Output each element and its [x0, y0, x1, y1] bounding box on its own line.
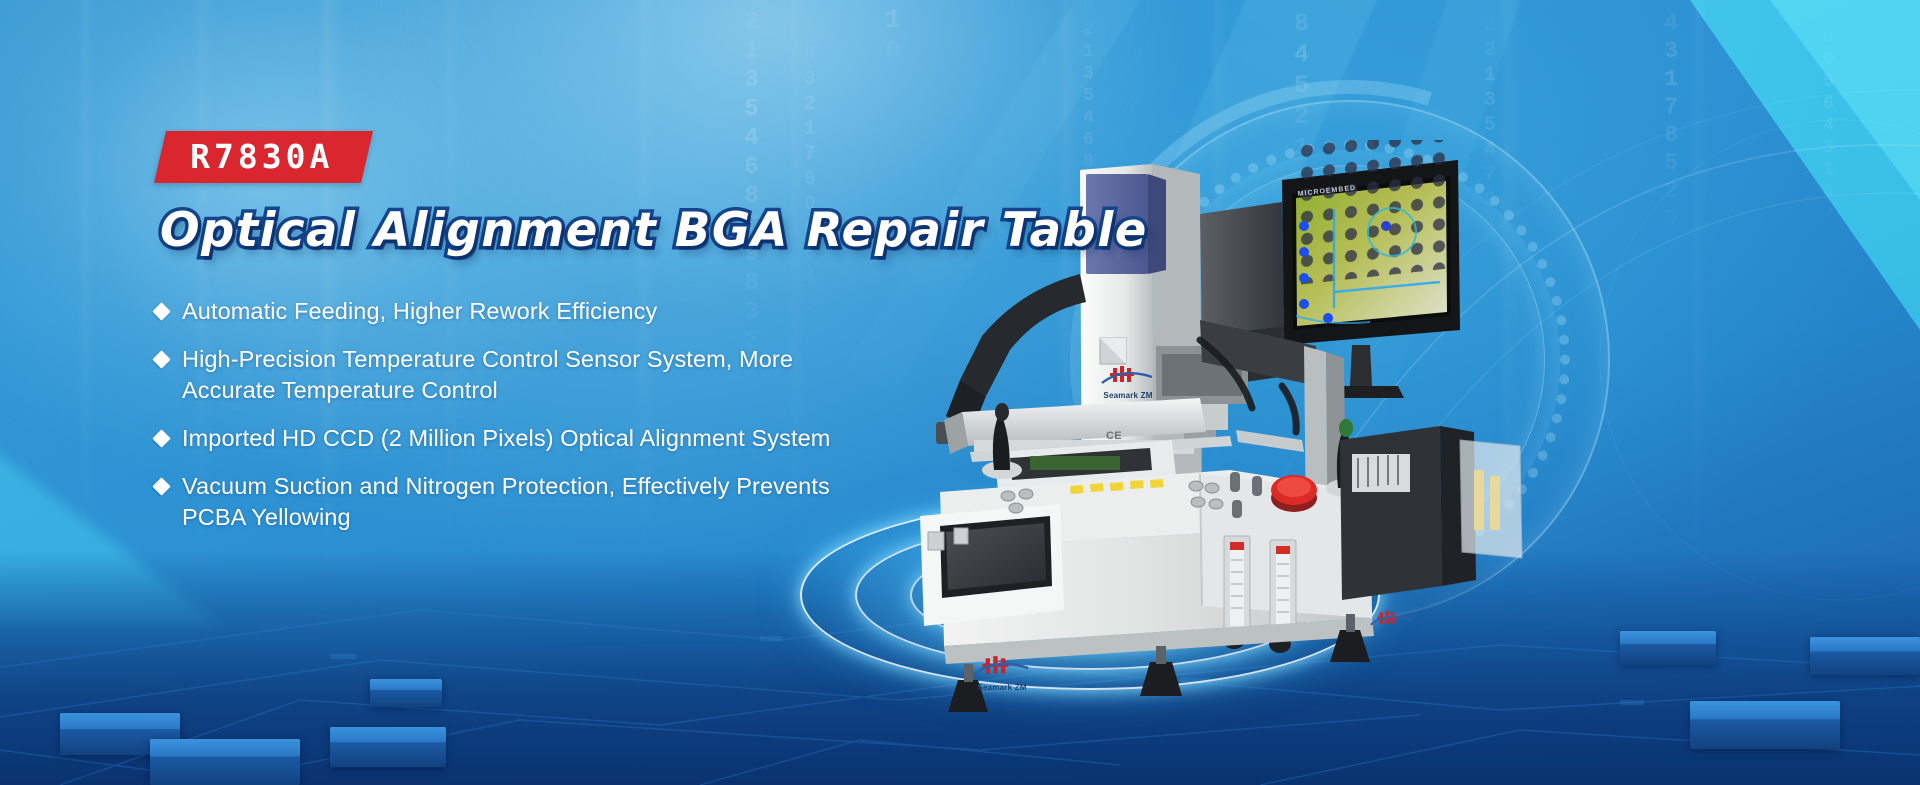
brand-tower-label: Seamark ZM [1096, 392, 1160, 400]
page-title: Optical Alignment BGA Repair Table [160, 203, 1148, 258]
seamark-logo-icon [1100, 365, 1156, 387]
model-number-text: R7830A [190, 140, 333, 173]
feature-item: Automatic Feeding, Higher Rework Efficie… [155, 296, 915, 327]
feature-item-label: Imported HD CCD (2 Million Pixels) Optic… [182, 423, 830, 454]
seamark-logo-icon-feeder [1368, 610, 1416, 628]
feature-item-label: High-Precision Temperature Control Senso… [182, 344, 882, 406]
diamond-icon [152, 302, 170, 320]
auto-feeder-unit [1340, 426, 1522, 600]
feature-item: Vacuum Suction and Nitrogen Protection, … [155, 471, 915, 533]
diamond-icon [152, 429, 170, 447]
feature-item-label: Vacuum Suction and Nitrogen Protection, … [182, 471, 882, 533]
feature-list: Automatic Feeding, Higher Rework Efficie… [155, 296, 915, 550]
product-banner: 9213546879832164832179056431010521354687… [0, 0, 1920, 785]
banner-text-content: R7830A Optical Alignment BGA Repair Tabl… [0, 0, 1060, 785]
brand-logo-tower: Seamark ZM [1096, 365, 1160, 400]
brand-logo-feeder [1362, 610, 1422, 632]
feature-item: Imported HD CCD (2 Million Pixels) Optic… [155, 423, 915, 454]
diamond-icon [152, 350, 170, 368]
feature-item: High-Precision Temperature Control Senso… [155, 344, 915, 406]
model-number-badge: R7830A [154, 131, 373, 183]
emergency-stop-button [1271, 475, 1317, 512]
feature-item-label: Automatic Feeding, Higher Rework Efficie… [182, 296, 657, 327]
ce-mark-label: CE [1106, 430, 1122, 442]
diamond-icon [152, 477, 170, 495]
